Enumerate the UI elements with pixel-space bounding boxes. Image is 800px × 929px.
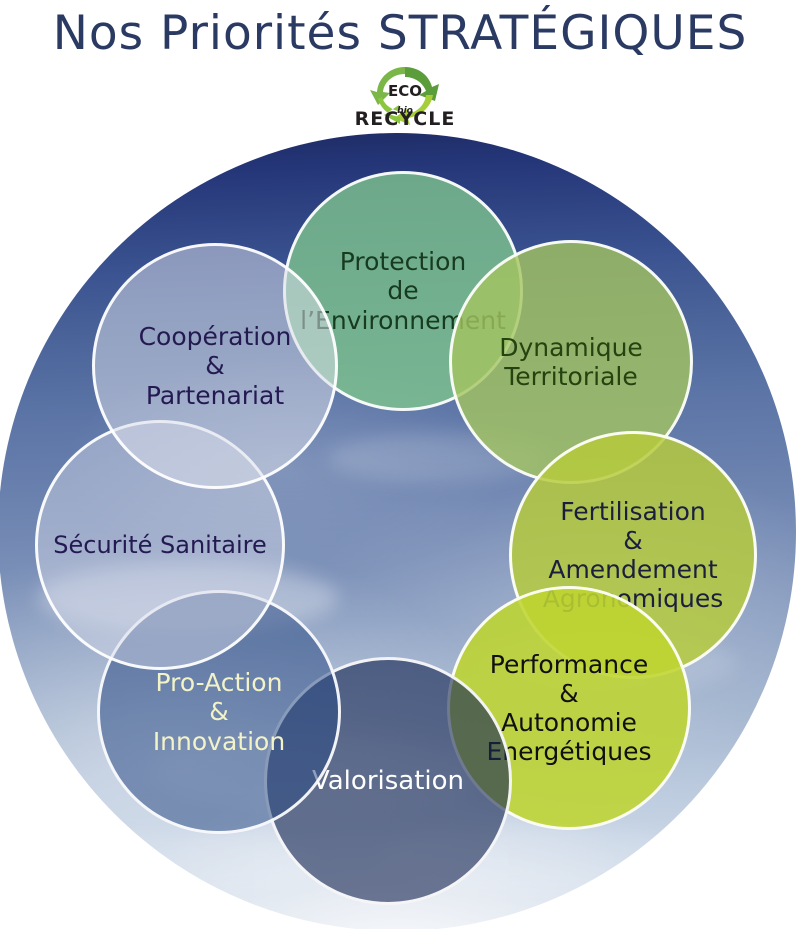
- bubble-label-line: &: [101, 351, 329, 380]
- bubble-label-line: &: [106, 697, 332, 726]
- bubble-label-line: Territoriale: [458, 362, 684, 391]
- bubble-label: Pro-Action&Innovation: [106, 668, 332, 756]
- logo-eco-text: ECO: [388, 82, 422, 100]
- bubble-label: DynamiqueTerritoriale: [458, 333, 684, 392]
- recycle-arrows-icon: ECO bio RECYCLE: [340, 57, 470, 129]
- bubble-label-line: Partenariat: [101, 381, 329, 410]
- bubble-cooperation-partenariat[interactable]: Coopération&Partenariat: [92, 243, 338, 489]
- bubble-label-line: Innovation: [106, 727, 332, 756]
- bubble-label: Coopération&Partenariat: [101, 322, 329, 410]
- bubble-label: Sécurité Sanitaire: [44, 531, 276, 559]
- bubble-label-line: Fertilisation: [518, 497, 748, 526]
- logo-recycle-text: RECYCLE: [355, 108, 456, 129]
- bubble-label-line: Dynamique: [458, 333, 684, 362]
- bubble-label-line: Amendement: [518, 555, 748, 584]
- bubble-label-line: Sécurité Sanitaire: [44, 531, 276, 559]
- bubble-label-line: Coopération: [101, 322, 329, 351]
- bubble-label-line: Performance: [456, 650, 682, 679]
- bubble-label-line: &: [518, 526, 748, 555]
- infographic-page: Nos Priorités STRATÉGIQUES ECO bio RECYC…: [0, 0, 800, 929]
- page-title: Nos Priorités STRATÉGIQUES: [0, 6, 800, 61]
- eco-bio-recycle-logo: ECO bio RECYCLE: [340, 57, 470, 129]
- bubble-label-line: Pro-Action: [106, 668, 332, 697]
- bubble-label-line: Protection: [292, 247, 514, 276]
- bubble-label-line: &: [456, 679, 682, 708]
